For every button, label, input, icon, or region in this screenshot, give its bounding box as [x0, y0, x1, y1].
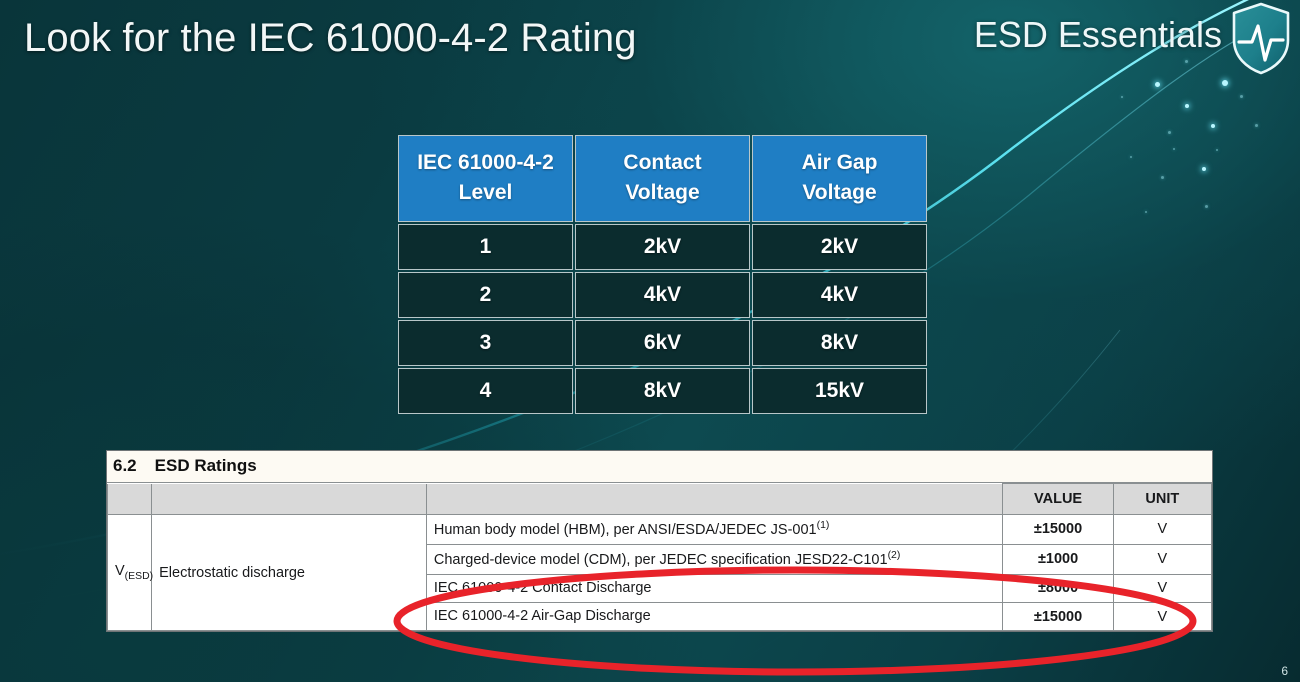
symbol-subscript: (ESD): [125, 571, 153, 582]
condition-text: Charged-device model (CDM), per JEDEC sp…: [434, 552, 888, 568]
column-header-air-gap-voltage: Air Gap Voltage: [752, 135, 927, 222]
header-line: Contact: [582, 148, 743, 178]
page-title: Look for the IEC 61000-4-2 Rating: [24, 15, 637, 61]
table-header-row: VALUE UNIT: [108, 484, 1212, 515]
symbol-base: V: [115, 563, 125, 579]
spacer-cell: [426, 484, 1003, 515]
cell-contact: 2kV: [575, 224, 750, 270]
footnote-marker: (2): [888, 550, 901, 561]
cell-value: ±15000: [1003, 515, 1113, 545]
iec-level-table: IEC 61000-4-2 Level Contact Voltage Air …: [396, 133, 929, 416]
cell-level: 3: [398, 320, 573, 366]
section-number: 6.2: [113, 456, 137, 475]
header-line: Level: [405, 178, 566, 208]
cell-airgap: 15kV: [752, 368, 927, 414]
column-header-value: VALUE: [1003, 484, 1113, 515]
cell-value: ±15000: [1003, 603, 1113, 631]
column-header-unit: UNIT: [1113, 484, 1211, 515]
header-line: IEC 61000-4-2: [405, 148, 566, 178]
page-number: 6: [1281, 664, 1288, 678]
footnote-marker: (1): [817, 520, 830, 531]
cell-level: 2: [398, 272, 573, 318]
cell-contact: 6kV: [575, 320, 750, 366]
star-dot: [1121, 96, 1123, 98]
section-title: ESD Ratings: [155, 456, 257, 475]
column-header-contact-voltage: Contact Voltage: [575, 135, 750, 222]
ratings-table: VALUE UNIT V(ESD) Electrostatic discharg…: [107, 483, 1212, 631]
star-dot: [1211, 124, 1215, 128]
star-dot: [1240, 95, 1243, 98]
cell-condition: IEC 61000-4-2 Contact Discharge: [426, 574, 1003, 602]
table-row: 2 4kV 4kV: [398, 272, 927, 318]
star-dot: [1216, 149, 1218, 151]
star-dot: [1173, 148, 1175, 150]
table-header-row: IEC 61000-4-2 Level Contact Voltage Air …: [398, 135, 927, 222]
star-dot: [1155, 82, 1160, 87]
spacer-cell: [108, 484, 152, 515]
cell-value: ±8000: [1003, 574, 1113, 602]
cell-unit: V: [1113, 515, 1211, 545]
cell-unit: V: [1113, 544, 1211, 574]
cell-symbol: V(ESD): [108, 515, 152, 631]
cell-airgap: 4kV: [752, 272, 927, 318]
slide-canvas: Look for the IEC 61000-4-2 Rating ESD Es…: [0, 0, 1300, 682]
brand-label: ESD Essentials: [974, 14, 1222, 56]
header-line: Voltage: [759, 178, 920, 208]
spacer-cell: [152, 484, 427, 515]
table-row: 4 8kV 15kV: [398, 368, 927, 414]
cell-airgap: 8kV: [752, 320, 927, 366]
star-dot: [1205, 205, 1208, 208]
cell-unit: V: [1113, 603, 1211, 631]
cell-condition: Charged-device model (CDM), per JEDEC sp…: [426, 544, 1003, 574]
condition-text: Human body model (HBM), per ANSI/ESDA/JE…: [434, 522, 817, 538]
star-dot: [1255, 124, 1258, 127]
star-dot: [1145, 211, 1147, 213]
cell-contact: 8kV: [575, 368, 750, 414]
star-dot: [1130, 156, 1132, 158]
cell-level: 4: [398, 368, 573, 414]
cell-condition: IEC 61000-4-2 Air-Gap Discharge: [426, 603, 1003, 631]
star-dot: [1185, 60, 1188, 63]
star-dot: [1222, 80, 1228, 86]
cell-level: 1: [398, 224, 573, 270]
header-line: Air Gap: [759, 148, 920, 178]
cell-airgap: 2kV: [752, 224, 927, 270]
cell-condition: Human body model (HBM), per ANSI/ESDA/JE…: [426, 515, 1003, 545]
header-line: Voltage: [582, 178, 743, 208]
cell-unit: V: [1113, 574, 1211, 602]
cell-contact: 4kV: [575, 272, 750, 318]
table-row: 3 6kV 8kV: [398, 320, 927, 366]
star-dot: [1185, 104, 1189, 108]
cell-parameter: Electrostatic discharge: [152, 515, 427, 631]
shield-pulse-icon: [1230, 2, 1292, 76]
star-dot: [1202, 167, 1206, 171]
star-dot: [1168, 131, 1171, 134]
cell-value: ±1000: [1003, 544, 1113, 574]
esd-ratings-datasheet: 6.2ESD Ratings VALUE UNIT V(ESD) Ele: [106, 450, 1213, 632]
table-row: V(ESD) Electrostatic discharge Human bod…: [108, 515, 1212, 545]
section-heading: 6.2ESD Ratings: [107, 451, 1212, 483]
table-row: 1 2kV 2kV: [398, 224, 927, 270]
column-header-level: IEC 61000-4-2 Level: [398, 135, 573, 222]
star-dot: [1161, 176, 1164, 179]
